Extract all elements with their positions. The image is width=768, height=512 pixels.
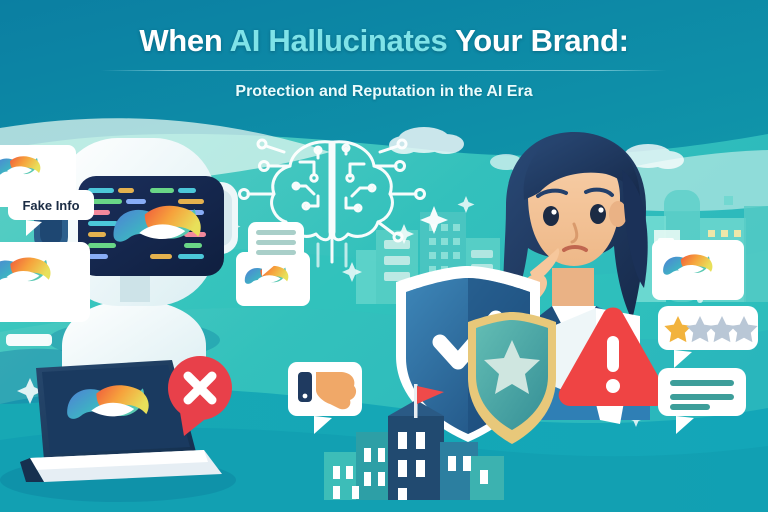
brand-card — [652, 240, 744, 300]
hero-illustration — [0, 0, 768, 512]
fake-info-text: Fake Info — [22, 198, 79, 213]
fake-info-label: Fake Info — [8, 190, 94, 220]
illustration-canvas: Fake Info When AI Hallucinates Your Bran… — [0, 0, 768, 512]
